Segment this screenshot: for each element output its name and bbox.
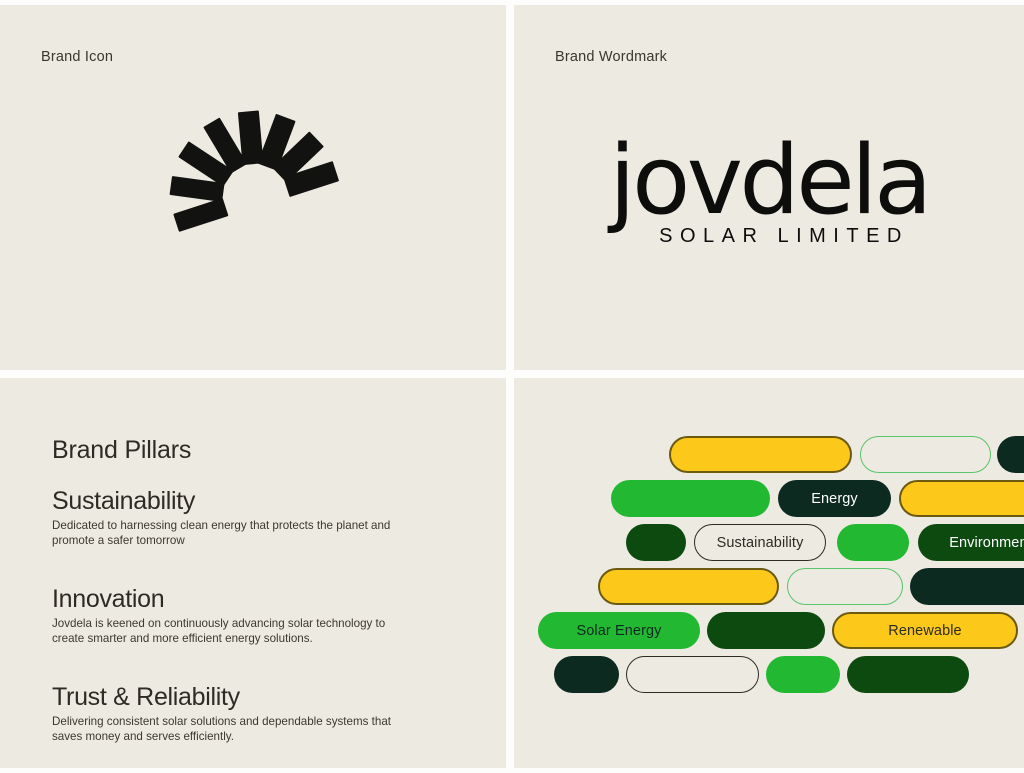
keyword-pill-solar-energy[interactable]: Solar Energy [538, 612, 700, 649]
keyword-pill-blank[interactable] [626, 524, 686, 561]
keyword-pill-label: Environment [949, 535, 1024, 551]
keyword-pill-label: Energy [811, 491, 858, 507]
brand-icon-wrap [0, 5, 506, 370]
wordmark-tagline: SOLAR LIMITED [659, 225, 909, 248]
keyword-pill-label: Solar Energy [576, 623, 661, 639]
keyword-pill-blank[interactable] [669, 436, 852, 473]
pillar-item: Sustainability Dedicated to harnessing c… [52, 487, 476, 549]
keyword-pill-blank[interactable] [997, 436, 1024, 473]
keyword-pill-row [514, 568, 1024, 605]
pillar-description: Jovdela is keened on continuously advanc… [52, 616, 392, 647]
pillars-list: Brand Pillars Sustainability Dedicated t… [52, 436, 476, 744]
pillar-name: Sustainability [52, 487, 476, 516]
pillar-description: Dedicated to harnessing clean energy tha… [52, 518, 392, 549]
keyword-pill-row: Energy [514, 480, 1024, 517]
pillar-item: Trust & Reliability Delivering consisten… [52, 683, 476, 745]
keyword-pill-blank[interactable] [899, 480, 1024, 517]
keyword-pill-field: EnergySustainabilityEnvironmentSolar Ene… [514, 436, 1024, 700]
wordmark-name: jovdela [609, 141, 929, 223]
wordmark-wrap: jovdela SOLAR LIMITED [514, 5, 1024, 370]
keyword-pill-blank[interactable] [910, 568, 1024, 605]
keyword-pill-label: Sustainability [717, 535, 804, 551]
keyword-pill-label: Renewable [888, 623, 961, 639]
pillar-name: Innovation [52, 585, 476, 614]
pillar-item: Innovation Jovdela is keened on continuo… [52, 585, 476, 647]
pillar-description: Delivering consistent solar solutions an… [52, 714, 392, 745]
keyword-pill-blank[interactable] [554, 656, 619, 693]
keyword-pill-environment[interactable]: Environment [918, 524, 1024, 561]
keyword-pill-row [514, 436, 1024, 473]
keyword-pill-blank[interactable] [837, 524, 909, 561]
keyword-pill-renewable[interactable]: Renewable [832, 612, 1018, 649]
keyword-pill-blank[interactable] [707, 612, 825, 649]
keyword-pill-row [514, 656, 1024, 693]
pillar-name: Trust & Reliability [52, 683, 476, 712]
keyword-pill-energy[interactable]: Energy [778, 480, 891, 517]
brand-board: Brand Icon Brand Wordmark jovdela SOLAR … [0, 0, 1024, 773]
keyword-pill-row: SustainabilityEnvironment [514, 524, 1024, 561]
keyword-pill-blank[interactable] [847, 656, 969, 693]
sunburst-fan-icon [166, 107, 346, 287]
panel-brand-wordmark: Brand Wordmark jovdela SOLAR LIMITED [514, 5, 1024, 370]
keyword-pill-blank[interactable] [626, 656, 759, 693]
keyword-pill-sustainability[interactable]: Sustainability [694, 524, 826, 561]
panel-brand-pillars: Brand Pillars Sustainability Dedicated t… [0, 378, 506, 768]
keyword-pill-blank[interactable] [611, 480, 770, 517]
keyword-pill-blank[interactable] [766, 656, 840, 693]
keyword-pill-blank[interactable] [860, 436, 991, 473]
panel-brand-icon: Brand Icon [0, 5, 506, 370]
keyword-pill-row: Solar EnergyRenewable [514, 612, 1024, 649]
panel-brand-keywords: EnergySustainabilityEnvironmentSolar Ene… [514, 378, 1024, 768]
sunburst-blade [173, 197, 228, 231]
keyword-pill-blank[interactable] [598, 568, 779, 605]
pillars-title: Brand Pillars [52, 436, 476, 465]
keyword-pill-blank[interactable] [787, 568, 903, 605]
